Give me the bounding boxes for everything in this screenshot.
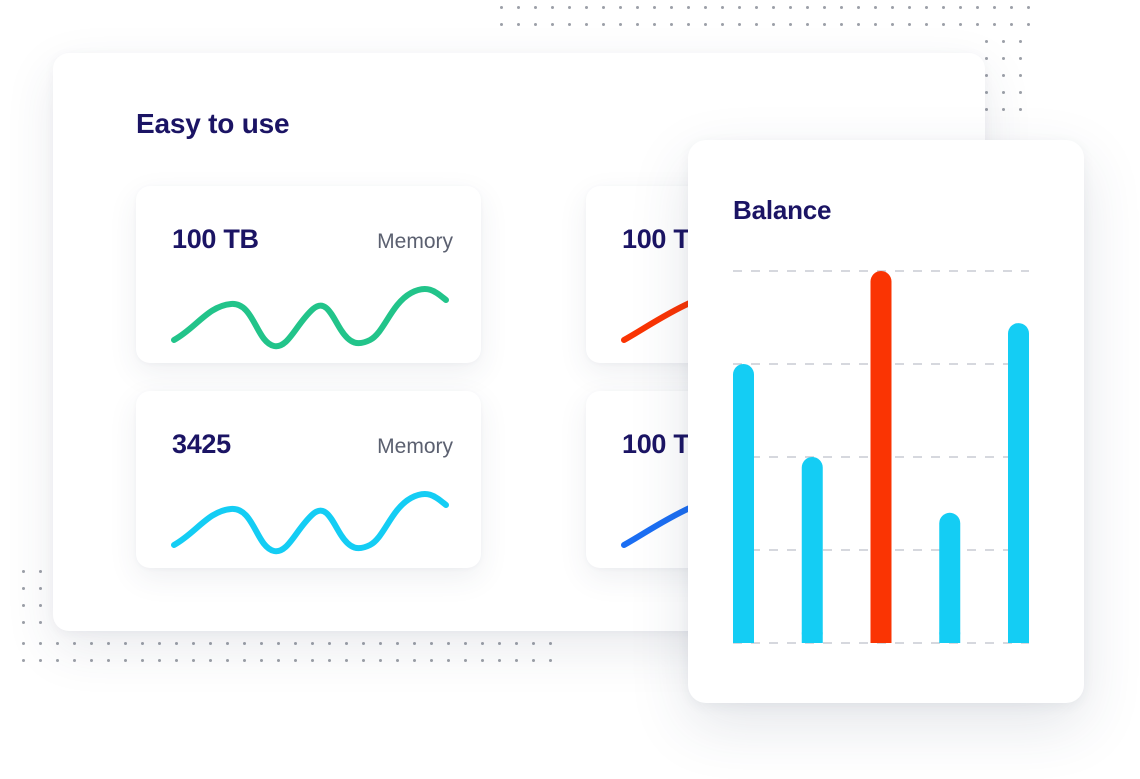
decorative-dot [141, 659, 144, 662]
decorative-dot [549, 642, 552, 645]
decorative-dot [39, 642, 42, 645]
dot-row [985, 108, 1036, 111]
decorative-dot [56, 642, 59, 645]
decorative-dot [362, 642, 365, 645]
decorative-dot [985, 40, 988, 43]
memory-sparkline-green [136, 264, 481, 363]
decorative-dot [993, 23, 996, 26]
decorative-dot [430, 659, 433, 662]
stat-card-label: Memory [377, 435, 453, 459]
decorative-dot [653, 6, 656, 9]
decorative-dot [1019, 108, 1022, 111]
decorative-dot [209, 642, 212, 645]
decorative-dot [192, 659, 195, 662]
decorative-dot [90, 642, 93, 645]
decorative-dot [1019, 40, 1022, 43]
decorative-dot [1010, 23, 1013, 26]
decorative-dot [277, 642, 280, 645]
decorative-dot [532, 659, 535, 662]
decorative-dot [22, 642, 25, 645]
decorative-dot [687, 6, 690, 9]
decorative-dot [721, 23, 724, 26]
decorative-dot [141, 642, 144, 645]
decorative-dot [1010, 6, 1013, 9]
decorative-dot [857, 23, 860, 26]
decorative-dot [328, 642, 331, 645]
decorative-dot [1002, 57, 1005, 60]
decorative-dot [158, 659, 161, 662]
decorative-dot [602, 23, 605, 26]
decorative-dot [481, 659, 484, 662]
decorative-dot [39, 659, 42, 662]
decorative-dot [653, 23, 656, 26]
decorative-dot [1019, 91, 1022, 94]
decorative-dot [260, 642, 263, 645]
decorative-dot [840, 23, 843, 26]
decorative-dot [158, 642, 161, 645]
decorative-dot [789, 23, 792, 26]
decorative-dot [22, 621, 25, 624]
decorative-dot [39, 570, 42, 573]
page-title: Easy to use [136, 108, 289, 140]
dot-row [985, 40, 1036, 43]
decorative-dot [192, 642, 195, 645]
dot-row [985, 91, 1036, 94]
stat-card-memory-3[interactable]: 3425 Memory [136, 391, 481, 568]
decorative-dot [90, 659, 93, 662]
decorative-dot [328, 659, 331, 662]
decorative-dot [840, 6, 843, 9]
decorative-dot [976, 23, 979, 26]
chart-bar[interactable] [871, 271, 892, 643]
dot-row [500, 6, 1044, 9]
decorative-dot [534, 23, 537, 26]
decorative-dot [985, 57, 988, 60]
decorative-dot [1002, 74, 1005, 77]
decorative-dot [549, 659, 552, 662]
decorative-dot [959, 6, 962, 9]
decorative-dot [175, 659, 178, 662]
dot-row [22, 621, 56, 624]
decorative-dot [107, 659, 110, 662]
decorative-dot [1019, 74, 1022, 77]
decorative-dot [551, 6, 554, 9]
balance-panel: Balance [688, 140, 1084, 703]
decorative-dot [806, 6, 809, 9]
decorative-dot [874, 23, 877, 26]
decorative-dot [447, 642, 450, 645]
decorative-dot [585, 23, 588, 26]
decorative-dot [636, 23, 639, 26]
decorative-dot [500, 23, 503, 26]
decorative-dot [993, 6, 996, 9]
screenshot-stage: Easy to use 100 TB Memory 100 T [0, 0, 1140, 779]
decorative-dot [464, 642, 467, 645]
decorative-dot [311, 642, 314, 645]
decorative-dot [22, 570, 25, 573]
decorative-dot [619, 6, 622, 9]
decorative-dot [568, 6, 571, 9]
decorative-dot [976, 6, 979, 9]
decorative-dot [925, 23, 928, 26]
decorative-dot [345, 642, 348, 645]
decorative-dot [515, 659, 518, 662]
decorative-dot [602, 6, 605, 9]
decorative-dot [260, 659, 263, 662]
decorative-dot [107, 642, 110, 645]
dot-row [22, 659, 566, 662]
decorative-dot [772, 23, 775, 26]
balance-bar-chart-svg [733, 267, 1029, 647]
decorative-dot [22, 659, 25, 662]
decorative-dot [430, 642, 433, 645]
stat-card-label: Memory [377, 230, 453, 254]
decorative-dot [22, 587, 25, 590]
decorative-dot [379, 659, 382, 662]
stat-card-value: 100 T [622, 224, 690, 255]
decorative-dot [908, 6, 911, 9]
decorative-dot [498, 642, 501, 645]
decorative-dot [670, 23, 673, 26]
chart-bar-foot [939, 633, 960, 644]
decorative-dot [670, 6, 673, 9]
balance-bar-chart[interactable] [733, 267, 1029, 647]
decorative-dot [532, 642, 535, 645]
decorative-dot [534, 6, 537, 9]
decorative-dot [942, 23, 945, 26]
chart-bar[interactable] [939, 513, 960, 643]
balance-title: Balance [733, 195, 831, 226]
memory-sparkline-cyan [136, 469, 481, 568]
decorative-dot [738, 6, 741, 9]
decorative-dot [345, 659, 348, 662]
decorative-dot [294, 659, 297, 662]
chart-bar-foot [1008, 633, 1029, 644]
decorative-dot [985, 108, 988, 111]
decorative-dot [551, 23, 554, 26]
dot-row [985, 57, 1036, 60]
decorative-dot [959, 23, 962, 26]
decorative-dot [311, 659, 314, 662]
decorative-dot-grid-top-right [985, 40, 1036, 125]
decorative-dot [464, 659, 467, 662]
dot-row [22, 570, 56, 573]
decorative-dot-grid-left [22, 570, 56, 638]
chart-bar[interactable] [802, 457, 823, 643]
decorative-dot [1027, 23, 1030, 26]
decorative-dot [515, 642, 518, 645]
decorative-dot [22, 604, 25, 607]
decorative-dot [447, 659, 450, 662]
decorative-dot [772, 6, 775, 9]
decorative-dot [362, 659, 365, 662]
decorative-dot [1027, 6, 1030, 9]
decorative-dot [619, 23, 622, 26]
decorative-dot [379, 642, 382, 645]
chart-bar-foot [733, 633, 754, 644]
decorative-dot [823, 6, 826, 9]
decorative-dot [39, 587, 42, 590]
decorative-dot [874, 6, 877, 9]
decorative-dot [517, 6, 520, 9]
decorative-dot [721, 6, 724, 9]
decorative-dot [1002, 108, 1005, 111]
stat-card-value: 100 T [622, 429, 690, 460]
chart-bar-foot [871, 633, 892, 644]
decorative-dot [56, 659, 59, 662]
decorative-dot [243, 642, 246, 645]
decorative-dot [481, 642, 484, 645]
decorative-dot [891, 23, 894, 26]
decorative-dot [175, 642, 178, 645]
decorative-dot [1002, 91, 1005, 94]
decorative-dot [277, 659, 280, 662]
decorative-dot [985, 91, 988, 94]
decorative-dot [517, 23, 520, 26]
stat-card-memory-1[interactable]: 100 TB Memory [136, 186, 481, 363]
decorative-dot [942, 6, 945, 9]
decorative-dot [857, 6, 860, 9]
decorative-dot-grid-bottom [22, 642, 566, 676]
decorative-dot [498, 659, 501, 662]
decorative-dot [226, 642, 229, 645]
decorative-dot [294, 642, 297, 645]
decorative-dot [908, 23, 911, 26]
decorative-dot [704, 6, 707, 9]
decorative-dot [891, 6, 894, 9]
decorative-dot [585, 6, 588, 9]
decorative-dot [823, 23, 826, 26]
decorative-dot [789, 6, 792, 9]
decorative-dot [226, 659, 229, 662]
decorative-dot [500, 6, 503, 9]
dot-row [985, 74, 1036, 77]
decorative-dot [124, 642, 127, 645]
stat-card-header: 100 TB Memory [172, 224, 453, 255]
decorative-dot [755, 23, 758, 26]
decorative-dot-grid-top [500, 6, 1044, 40]
decorative-dot [413, 659, 416, 662]
decorative-dot [1019, 57, 1022, 60]
decorative-dot [39, 621, 42, 624]
dot-row [22, 604, 56, 607]
chart-bar[interactable] [733, 364, 754, 643]
dot-row [500, 23, 1044, 26]
decorative-dot [73, 642, 76, 645]
decorative-dot [396, 659, 399, 662]
decorative-dot [243, 659, 246, 662]
stat-card-value: 3425 [172, 429, 231, 460]
dot-row [22, 587, 56, 590]
decorative-dot [704, 23, 707, 26]
decorative-dot [396, 642, 399, 645]
decorative-dot [687, 23, 690, 26]
decorative-dot [1002, 40, 1005, 43]
decorative-dot [925, 6, 928, 9]
stat-card-header: 3425 Memory [172, 429, 453, 460]
dot-row [22, 642, 566, 645]
decorative-dot [413, 642, 416, 645]
decorative-dot [985, 74, 988, 77]
decorative-dot [209, 659, 212, 662]
chart-bar-foot [802, 633, 823, 644]
decorative-dot [755, 6, 758, 9]
decorative-dot [738, 23, 741, 26]
decorative-dot [73, 659, 76, 662]
decorative-dot [806, 23, 809, 26]
decorative-dot [636, 6, 639, 9]
decorative-dot [39, 604, 42, 607]
stat-card-value: 100 TB [172, 224, 259, 255]
decorative-dot [568, 23, 571, 26]
chart-bar[interactable] [1008, 323, 1029, 643]
decorative-dot [124, 659, 127, 662]
